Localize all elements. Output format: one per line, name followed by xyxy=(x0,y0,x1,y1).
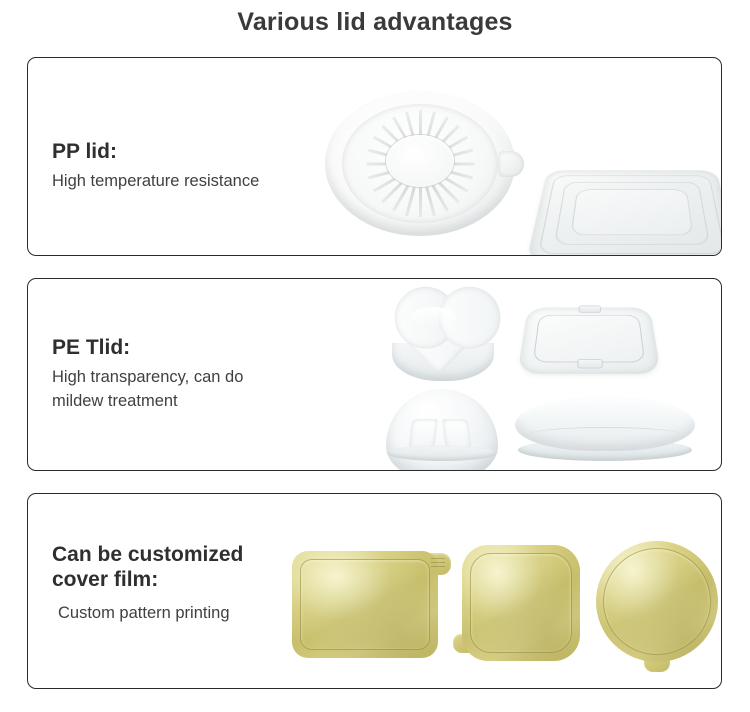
panel-cover-film-text-block: Can be customized cover film: Custom pat… xyxy=(52,543,243,625)
round-dome-pe-lid-image xyxy=(386,389,498,461)
foil-inner-edge xyxy=(603,548,711,655)
square-notched-pe-lid-image xyxy=(517,308,661,374)
heart-shaped-pe-dome-lid-image xyxy=(388,297,498,381)
page-title: Various lid advantages xyxy=(0,8,750,37)
panel-pe-subtext: High transparency, can do mildew treatme… xyxy=(52,366,243,414)
round-ribbed-pp-lid-image xyxy=(325,91,515,236)
lid-center-hub xyxy=(386,135,454,187)
gold-square-cover-film-image xyxy=(462,545,580,661)
foil-tab-ribs xyxy=(431,558,445,569)
square-lid-notch-bottom xyxy=(577,359,603,369)
square-lid-notch-top xyxy=(579,306,602,313)
panel-cover-film-subtext: Custom pattern printing xyxy=(52,602,243,626)
oval-lid-top xyxy=(515,397,695,451)
rectangular-pp-lid-image xyxy=(526,170,722,256)
panel-pp-text-block: PP lid: High temperature resistance xyxy=(52,140,259,194)
panel-pe-text-block: PE Tlid: High transparency, can do milde… xyxy=(52,336,243,414)
foil-inner-edge xyxy=(470,553,572,653)
gold-round-cover-film-image xyxy=(596,541,718,662)
lid-pull-tab xyxy=(498,151,524,177)
foil-inner-edge xyxy=(300,559,430,650)
panel-pp-heading: PP lid: xyxy=(52,140,259,165)
panel-pe-heading: PE Tlid: xyxy=(52,336,243,361)
flat-oval-pe-lid-image xyxy=(515,397,695,461)
gold-rectangular-cover-film-image xyxy=(292,551,438,658)
panel-pe-lid: PE Tlid: High transparency, can do milde… xyxy=(27,278,722,471)
heart-lid-highlight xyxy=(410,307,456,327)
dome-lip xyxy=(387,445,497,461)
oval-lid-seam xyxy=(529,427,681,442)
square-lid-inner-panel xyxy=(533,315,645,362)
panel-cover-film-heading: Can be customized cover film: xyxy=(52,543,243,593)
panel-pp-lid: PP lid: High temperature resistance xyxy=(27,57,722,256)
panel-cover-film: Can be customized cover film: Custom pat… xyxy=(27,493,722,689)
panel-pp-subtext: High temperature resistance xyxy=(52,170,259,194)
